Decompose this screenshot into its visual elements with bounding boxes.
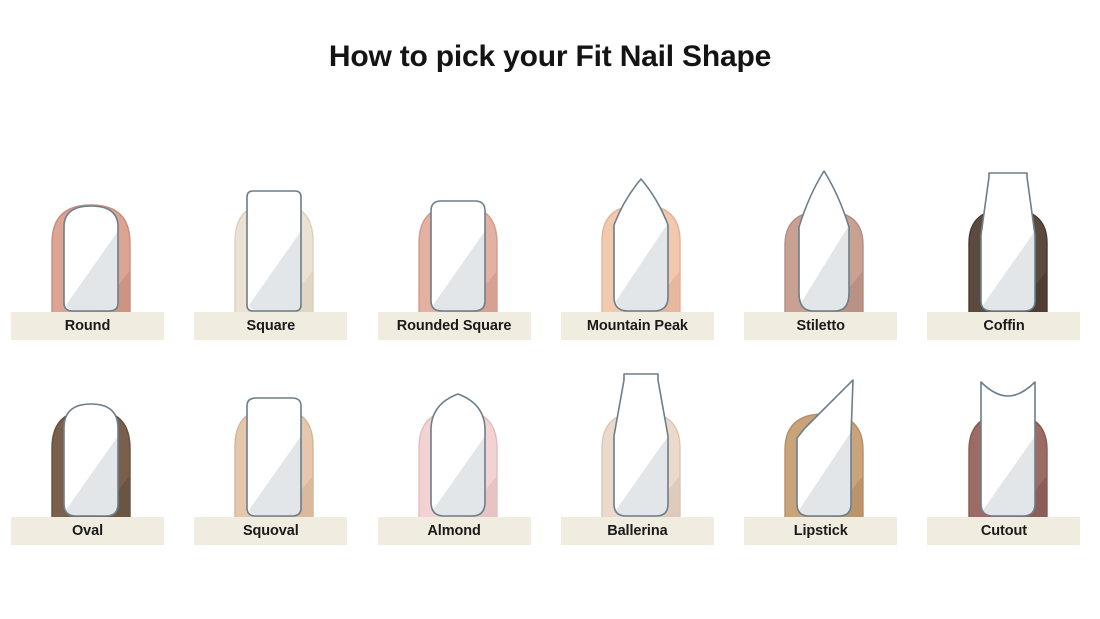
shape-label: Square <box>247 318 296 334</box>
nail-plate <box>64 206 118 311</box>
shape-label-band: Coffin <box>927 312 1080 340</box>
shape-label-band: Stiletto <box>744 312 897 340</box>
nail-plate <box>247 191 301 311</box>
nail-shape-card[interactable]: Stiletto <box>733 135 916 340</box>
shape-label-band: Lipstick <box>744 517 897 545</box>
nail-shape-card[interactable]: Squoval <box>183 340 366 545</box>
nail-shape-card[interactable]: Cutout <box>916 340 1099 545</box>
nail-plate <box>614 179 668 311</box>
shape-label-band: Cutout <box>927 517 1080 545</box>
nail-plate <box>64 404 118 516</box>
nail-shape-card[interactable]: Mountain Peak <box>550 135 733 340</box>
shape-label: Coffin <box>983 318 1024 334</box>
shape-label: Mountain Peak <box>587 318 688 334</box>
shape-label-band: Square <box>194 312 347 340</box>
nail-shape-grid: RoundSquareRounded SquareMountain PeakSt… <box>0 135 1100 545</box>
shape-label: Almond <box>427 523 480 539</box>
nail-plate <box>981 173 1035 311</box>
page-title: How to pick your Fit Nail Shape <box>0 40 1100 74</box>
shape-label: Stiletto <box>797 318 845 334</box>
nail-shape-card[interactable]: Square <box>183 135 366 340</box>
nail-shape-card[interactable]: Coffin <box>916 135 1099 340</box>
nail-shape-row: RoundSquareRounded SquareMountain PeakSt… <box>0 135 1100 340</box>
nail-plate <box>247 398 301 516</box>
shape-label-band: Ballerina <box>561 517 714 545</box>
nail-plate <box>799 171 849 311</box>
shape-label: Cutout <box>981 523 1027 539</box>
shape-label-band: Round <box>11 312 164 340</box>
shape-label: Lipstick <box>794 523 848 539</box>
shape-label: Rounded Square <box>397 318 512 334</box>
shape-label: Ballerina <box>607 523 667 539</box>
infographic-page: How to pick your Fit Nail Shape RoundSqu… <box>0 0 1100 619</box>
shape-label: Squoval <box>243 523 299 539</box>
nail-shape-card[interactable]: Almond <box>367 340 550 545</box>
nail-plate <box>797 380 853 516</box>
nail-shape-row: OvalSquovalAlmondBallerinaLipstickCutout <box>0 340 1100 545</box>
shape-label-band: Rounded Square <box>378 312 531 340</box>
nail-plate <box>431 201 485 311</box>
nail-plate <box>614 374 668 516</box>
shape-label-band: Almond <box>378 517 531 545</box>
nail-plate <box>431 394 485 516</box>
shape-label-band: Oval <box>11 517 164 545</box>
shape-label: Round <box>65 318 110 334</box>
nail-plate <box>981 382 1035 516</box>
nail-shape-card[interactable]: Round <box>0 135 183 340</box>
nail-shape-card[interactable]: Lipstick <box>733 340 916 545</box>
nail-shape-card[interactable]: Oval <box>0 340 183 545</box>
shape-label-band: Mountain Peak <box>561 312 714 340</box>
nail-shape-card[interactable]: Rounded Square <box>367 135 550 340</box>
nail-shape-card[interactable]: Ballerina <box>550 340 733 545</box>
shape-label-band: Squoval <box>194 517 347 545</box>
shape-label: Oval <box>72 523 103 539</box>
